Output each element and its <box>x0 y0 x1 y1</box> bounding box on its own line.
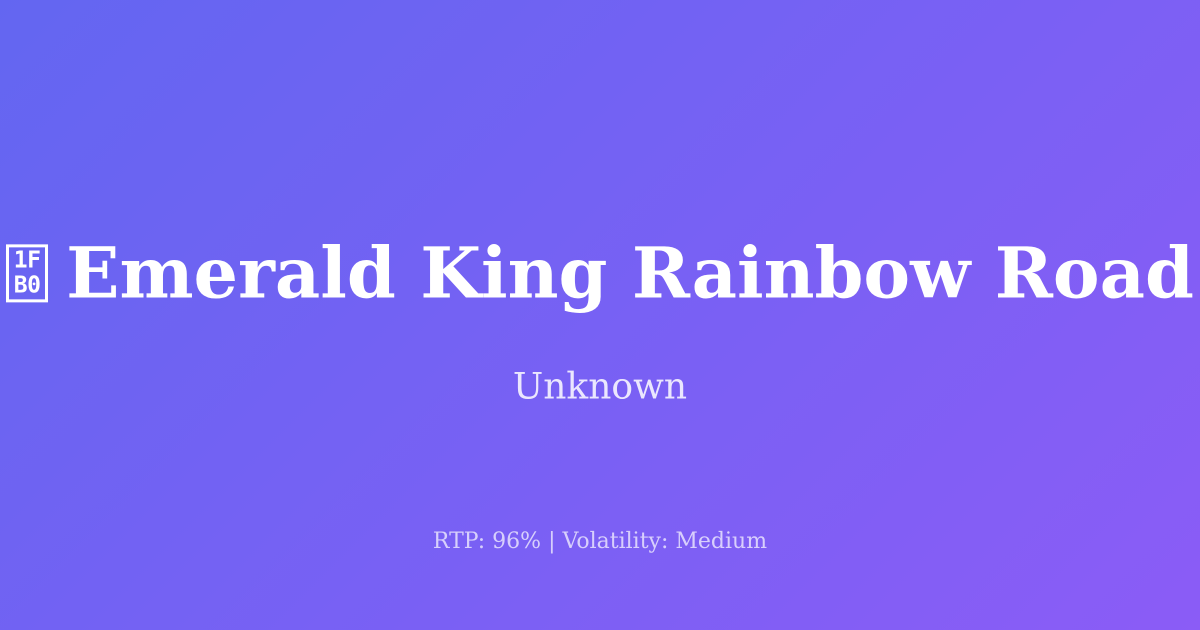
game-meta-line: RTP: 96% | Volatility: Medium <box>0 529 1200 555</box>
title-row: 1F B0 Emerald King Rainbow Road <box>0 189 1200 356</box>
page-title: Emerald King Rainbow Road <box>66 236 1194 310</box>
tofu-codepoint-upper: 1F <box>9 248 45 273</box>
subtitle: Unknown <box>0 365 1200 408</box>
slot-machine-icon: 1F B0 <box>6 244 48 302</box>
tofu-codepoint-lower: B0 <box>9 273 45 298</box>
og-preview-card: 1F B0 Emerald King Rainbow Road Unknown … <box>0 0 1200 630</box>
